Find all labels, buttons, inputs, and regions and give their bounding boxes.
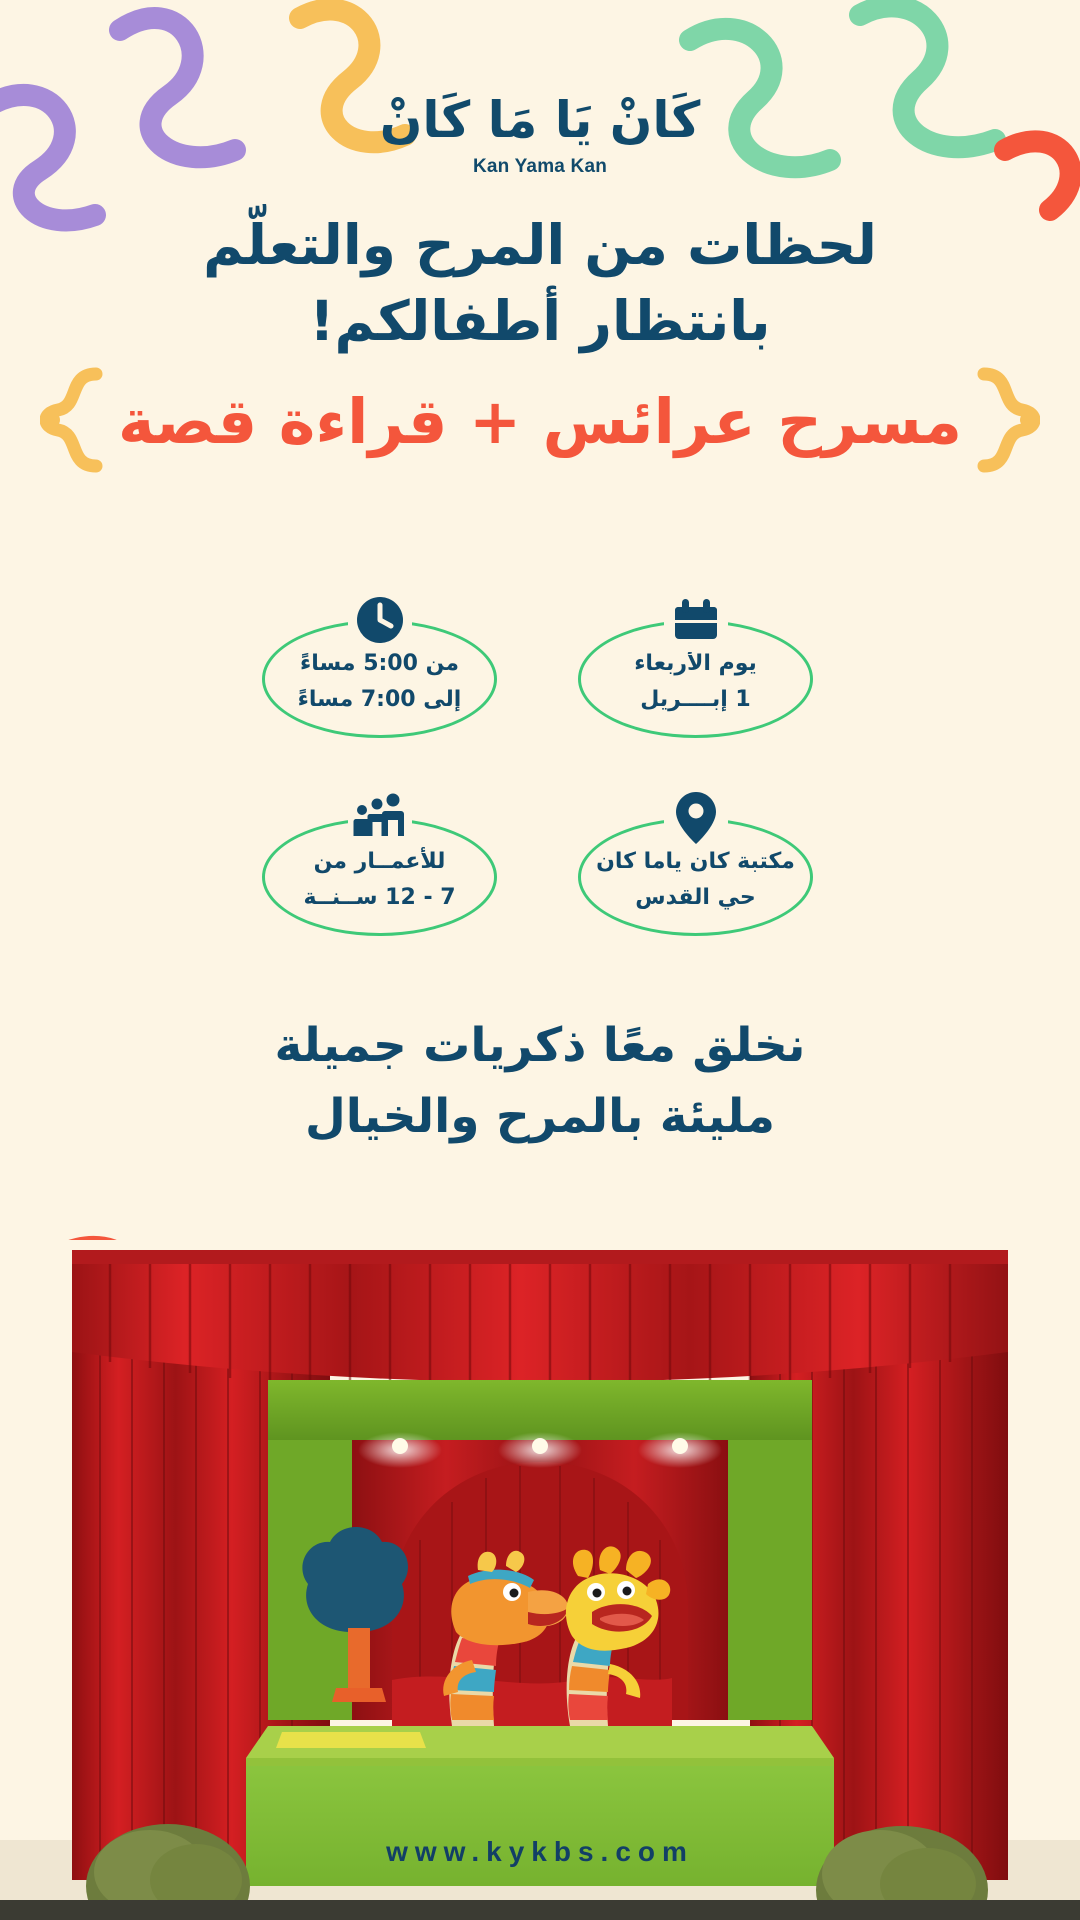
page-title: لحظات من المرح والتعلّم بانتظار أطفالكم! [0, 208, 1080, 360]
brand-logo: كَانْ يَا مَا كَانْ Kan Yama Kan [0, 92, 1080, 178]
event-type-label: مسرح عرائس + قراءة قصة [118, 391, 962, 453]
website-url[interactable]: www.kykbs.com [0, 1836, 1080, 1868]
family-icon [348, 786, 412, 850]
puppet-theater-photo: www.kykbs.com [0, 1240, 1080, 1920]
brace-right-icon [974, 366, 1040, 478]
logo-english-wordmark: Kan Yama Kan [0, 156, 1080, 178]
headline-line-2: بانتظار أطفالكم! [0, 284, 1080, 360]
location-pin-icon [664, 786, 728, 850]
event-details-cards: من 5:00 مساءً إلى 7:00 مساءً يوم الأربعا… [0, 588, 1080, 988]
poster-canvas: كَانْ يَا مَا كَانْ Kan Yama Kan لحظات م… [0, 0, 1080, 1920]
logo-arabic-wordmark: كَانْ يَا مَا كَانْ [0, 92, 1080, 150]
card-text: للأعمــار من 7 - 12 ســنــة [262, 844, 497, 917]
event-type-banner: مسرح عرائس + قراءة قصة [0, 362, 1080, 482]
card-text: من 5:00 مساءً إلى 7:00 مساءً [262, 646, 497, 719]
card-line-2: حي القدس [578, 880, 813, 916]
card-text: يوم الأربعاء 1 إبــــريل [578, 646, 813, 719]
detail-card-location: مكتبة كان ياما كان حي القدس [578, 786, 813, 936]
clock-icon [348, 588, 412, 652]
closing-line-2: مليئة بالمرح والخيال [0, 1081, 1080, 1152]
closing-message: نخلق معًا ذكريات جميلة مليئة بالمرح والخ… [0, 1010, 1080, 1153]
closing-line-1: نخلق معًا ذكريات جميلة [0, 1010, 1080, 1081]
detail-card-date: يوم الأربعاء 1 إبــــريل [578, 588, 813, 738]
calendar-icon [664, 588, 728, 652]
card-line-2: 1 إبــــريل [578, 682, 813, 718]
card-text: مكتبة كان ياما كان حي القدس [578, 844, 813, 917]
card-line-2: 7 - 12 ســنــة [262, 880, 497, 916]
detail-card-time: من 5:00 مساءً إلى 7:00 مساءً [262, 588, 497, 738]
detail-card-ages: للأعمــار من 7 - 12 ســنــة [262, 786, 497, 936]
headline-line-1: لحظات من المرح والتعلّم [0, 208, 1080, 284]
brace-left-icon [40, 366, 106, 478]
card-line-2: إلى 7:00 مساءً [262, 682, 497, 718]
